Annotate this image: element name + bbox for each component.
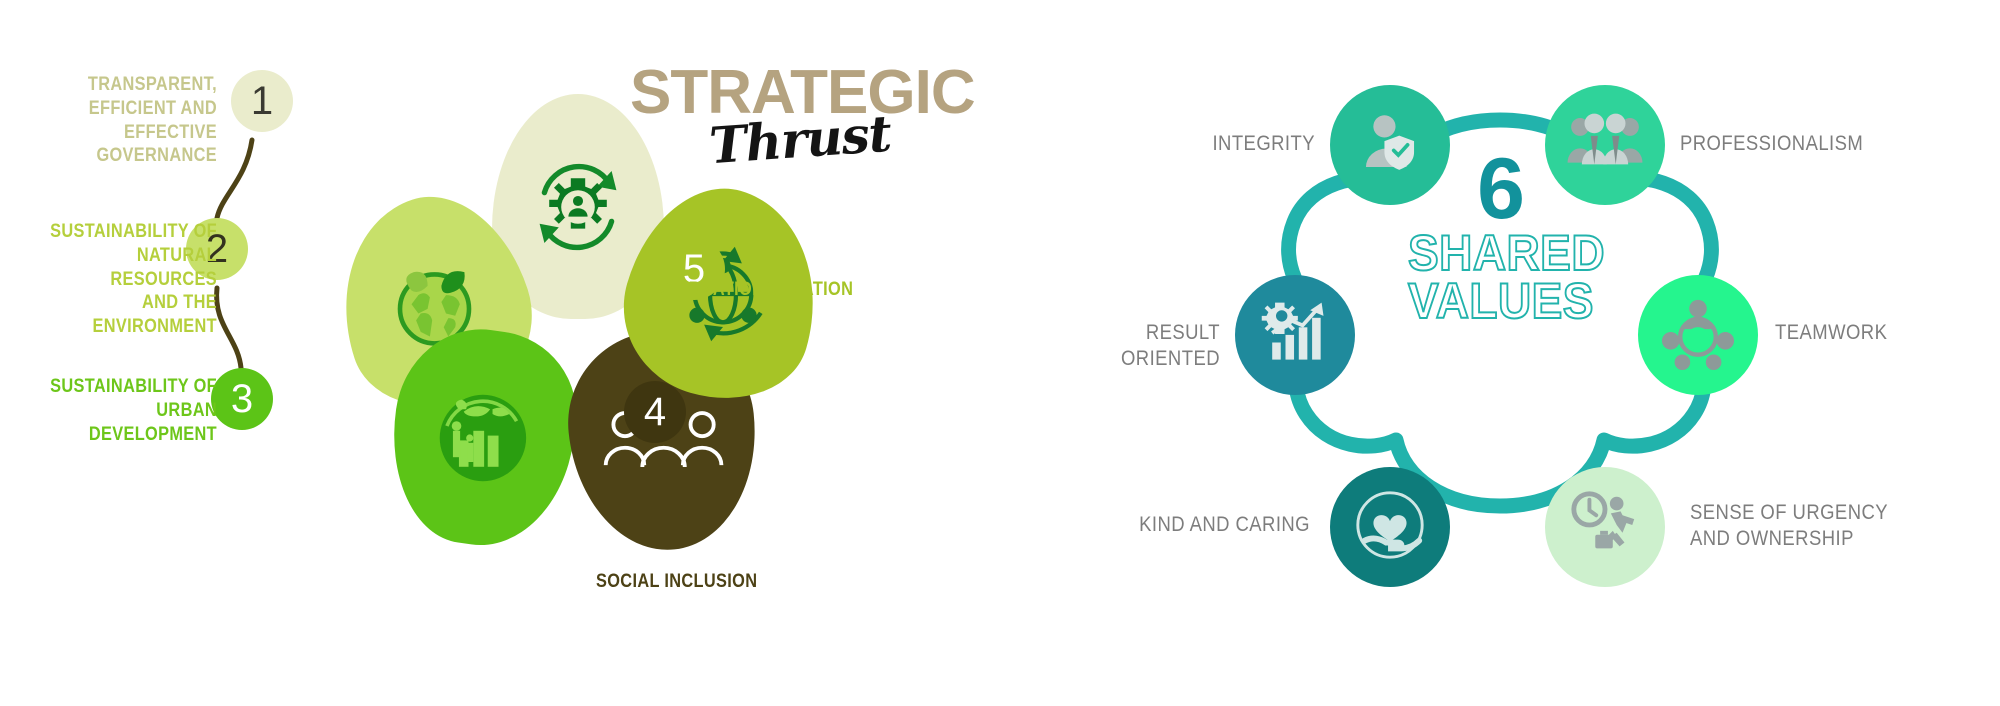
- person-shield-icon: [1353, 106, 1427, 185]
- infographic-canvas: 1 2 3 4 5 TRANSPARENT, EFFICIENT AND EFF…: [0, 0, 2000, 706]
- core-line-values: VALUES: [1408, 277, 1592, 325]
- value-label-kind-and-caring: KIND AND CARING: [980, 512, 1310, 538]
- value-label-professionalism: PROFESSIONALISM: [1680, 131, 1909, 157]
- thrust-number-4[interactable]: 4: [624, 381, 686, 443]
- value-circle-professionalism[interactable]: [1545, 85, 1665, 205]
- thrust-label-urban-development: SUSTAINABILITY OF URBAN DEVELOPMENT: [41, 375, 217, 446]
- teamwork-circle-icon: [1659, 294, 1737, 377]
- business-team-icon: [1564, 106, 1646, 185]
- shared-values-panel: 6 SHARED VALUES: [1000, 0, 2000, 706]
- value-circle-teamwork[interactable]: [1638, 275, 1758, 395]
- value-label-integrity: INTEGRITY: [1135, 131, 1315, 157]
- thrust-label-governance: TRANSPARENT, EFFICIENT AND EFFECTIVE GOV…: [41, 73, 217, 168]
- value-label-sense-of-urgency: SENSE OF URGENCY AND OWNERSHIP: [1690, 500, 1928, 553]
- value-label-result-oriented: RESULT ORIENTED: [1048, 320, 1220, 373]
- thrust-label-social-inclusion: SOCIAL INCLUSION: [596, 570, 785, 594]
- value-circle-result-oriented[interactable]: [1235, 275, 1355, 395]
- heart-in-hand-icon: [1351, 486, 1429, 569]
- core-line-shared: SHARED: [1408, 229, 1592, 277]
- value-circle-sense-of-urgency[interactable]: [1545, 467, 1665, 587]
- thrust-number-3[interactable]: 3: [211, 368, 273, 430]
- thrust-label-internationalization: INTERNATIONALIZATION: [650, 278, 848, 302]
- strategic-thrust-panel: 1 2 3 4 5 TRANSPARENT, EFFICIENT AND EFF…: [0, 0, 1000, 706]
- thrust-number-1[interactable]: 1: [231, 70, 293, 132]
- clock-running-person-icon: [1566, 488, 1644, 567]
- value-circle-kind-and-caring[interactable]: [1330, 467, 1450, 587]
- value-circle-integrity[interactable]: [1330, 85, 1450, 205]
- value-label-teamwork: TEAMWORK: [1775, 320, 1951, 346]
- green-city-icon: [393, 378, 573, 498]
- growth-chart-gear-icon: [1257, 295, 1333, 376]
- strategic-thrust-title: STRATEGIC Thrust: [630, 62, 970, 182]
- thrust-label-natural-resources: SUSTAINABILITY OF NATURAL RESOURCES AND …: [41, 220, 217, 339]
